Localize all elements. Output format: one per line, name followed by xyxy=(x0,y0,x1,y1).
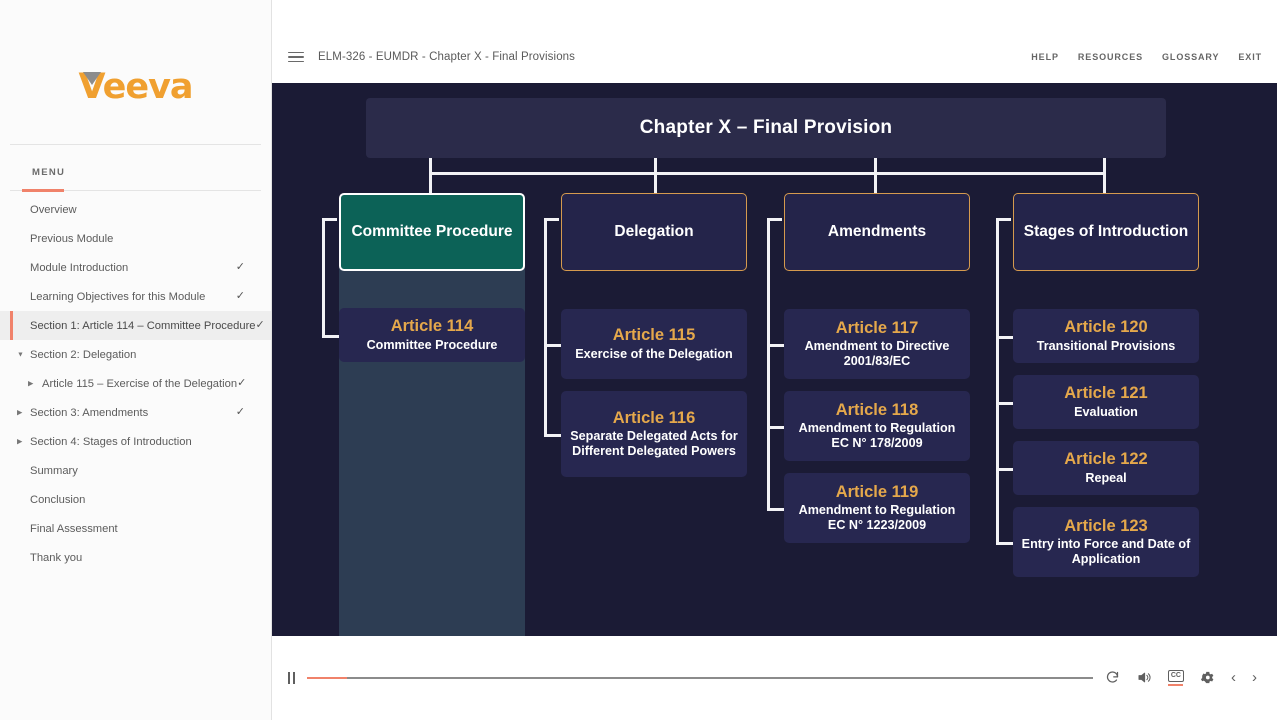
cc-active-underline xyxy=(1168,684,1183,686)
article-card[interactable]: Article 115Exercise of the Delegation xyxy=(561,309,747,379)
pause-button[interactable] xyxy=(282,666,301,690)
sidebar-item-label: Article 115 – Exercise of the Delegation xyxy=(42,378,237,390)
bracket-spine-3 xyxy=(767,218,770,508)
article-number: Article 119 xyxy=(792,482,962,502)
slide-canvas: Chapter X – Final Provision Committee Pr… xyxy=(272,83,1277,636)
sidebar: Veeva MENU OverviewPrevious ModuleModule… xyxy=(0,0,272,720)
veeva-triangle-icon xyxy=(83,72,101,85)
article-card[interactable]: Article 122Repeal xyxy=(1013,441,1199,495)
cc-label: CC xyxy=(1168,670,1184,682)
sidebar-item[interactable]: Previous Module xyxy=(0,224,271,253)
bracket-stub xyxy=(767,426,784,429)
article-number: Article 120 xyxy=(1021,317,1191,337)
bracket-top-stub-1 xyxy=(322,218,337,221)
drop-connector-2 xyxy=(654,158,657,193)
spine-connector xyxy=(429,172,1105,175)
sidebar-item-label: Final Assessment xyxy=(30,523,245,535)
article-description: Amendment to Directive 2001/83/EC xyxy=(792,339,962,369)
article-card[interactable]: Article 121Evaluation xyxy=(1013,375,1199,429)
sidebar-menu: OverviewPrevious ModuleModule Introducti… xyxy=(0,191,271,572)
disclosure-caret-icon[interactable]: ▼ xyxy=(17,351,24,358)
bracket-stub xyxy=(996,542,1013,545)
sidebar-item-label: Section 4: Stages of Introduction xyxy=(30,436,245,448)
article-card[interactable]: Article 114Committee Procedure xyxy=(339,308,525,362)
article-card[interactable]: Article 119Amendment to Regulation EC N°… xyxy=(784,473,970,543)
sidebar-item-label: Section 1: Article 114 – Committee Proce… xyxy=(30,320,256,332)
branch-header-3[interactable]: Amendments xyxy=(784,193,970,271)
article-card[interactable]: Article 120Transitional Provisions xyxy=(1013,309,1199,363)
bracket-stub xyxy=(996,402,1013,405)
article-card[interactable]: Article 116Separate Delegated Acts for D… xyxy=(561,391,747,477)
branch-header-1[interactable]: Committee Procedure xyxy=(339,193,525,271)
article-number: Article 117 xyxy=(792,318,962,338)
sidebar-item-label: Learning Objectives for this Module xyxy=(30,291,236,303)
sidebar-item-label: Previous Module xyxy=(30,233,245,245)
sidebar-item[interactable]: Learning Objectives for this Module✓ xyxy=(0,282,271,311)
article-card[interactable]: Article 123Entry into Force and Date of … xyxy=(1013,507,1199,577)
article-number: Article 115 xyxy=(569,325,739,345)
top-nav-glossary[interactable]: GLOSSARY xyxy=(1162,52,1219,62)
article-description: Exercise of the Delegation xyxy=(569,347,739,362)
sidebar-item[interactable]: ▶Section 3: Amendments✓ xyxy=(0,398,271,427)
top-bar: ELM-326 - EUMDR - Chapter X - Final Prov… xyxy=(272,31,1280,83)
bracket-spine-4 xyxy=(996,218,999,542)
bracket-top-stub-3 xyxy=(767,218,782,221)
disclosure-caret-icon[interactable]: ▶ xyxy=(17,438,22,445)
sidebar-item[interactable]: ▼Section 2: Delegation xyxy=(0,340,271,369)
article-description: Committee Procedure xyxy=(347,338,517,353)
sidebar-item[interactable]: ▶Article 115 – Exercise of the Delegatio… xyxy=(0,369,271,398)
bracket-stub xyxy=(767,508,784,511)
bracket-spine-1 xyxy=(322,218,325,335)
closed-captions-icon[interactable]: CC xyxy=(1168,670,1184,685)
top-nav-help[interactable]: HELP xyxy=(1031,52,1059,62)
top-nav-resources[interactable]: RESOURCES xyxy=(1078,52,1143,62)
branch-header-label: Amendments xyxy=(828,223,926,242)
menu-toggle-icon[interactable] xyxy=(288,49,304,65)
top-nav-exit[interactable]: EXIT xyxy=(1238,52,1262,62)
sidebar-item[interactable]: Section 1: Article 114 – Committee Proce… xyxy=(0,311,271,340)
bracket-stub xyxy=(322,335,339,338)
next-slide-icon[interactable]: › xyxy=(1252,670,1257,685)
bracket-spine-2 xyxy=(544,218,547,434)
article-description: Separate Delegated Acts for Different De… xyxy=(569,429,739,459)
sidebar-item[interactable]: Conclusion xyxy=(0,485,271,514)
article-number: Article 123 xyxy=(1021,516,1191,536)
article-card[interactable]: Article 117Amendment to Directive 2001/8… xyxy=(784,309,970,379)
bracket-stub xyxy=(767,344,784,347)
article-description: Transitional Provisions xyxy=(1021,339,1191,354)
top-navigation: HELPRESOURCESGLOSSARYEXIT xyxy=(1031,52,1262,62)
completed-check-icon: ✓ xyxy=(236,407,245,418)
elearning-player: Veeva MENU OverviewPrevious ModuleModule… xyxy=(0,0,1280,720)
bracket-top-stub-2 xyxy=(544,218,559,221)
article-description: Repeal xyxy=(1021,471,1191,486)
article-number: Article 121 xyxy=(1021,383,1191,403)
slide-stage: Chapter X – Final Provision Committee Pr… xyxy=(272,83,1277,636)
sidebar-item[interactable]: Module Introduction✓ xyxy=(0,253,271,282)
player-icon-group: CC ‹ › xyxy=(1105,670,1257,685)
sidebar-item-label: Conclusion xyxy=(30,494,245,506)
bracket-stub xyxy=(544,434,561,437)
article-number: Article 116 xyxy=(569,408,739,428)
bracket-stub xyxy=(996,336,1013,339)
sidebar-item[interactable]: Final Assessment xyxy=(0,514,271,543)
sidebar-item[interactable]: Summary xyxy=(0,456,271,485)
sidebar-item-label: Section 3: Amendments xyxy=(30,407,236,419)
sidebar-item-label: Module Introduction xyxy=(30,262,236,274)
bracket-stub xyxy=(544,344,561,347)
sidebar-item[interactable]: Thank you xyxy=(0,543,271,572)
sidebar-item-label: Overview xyxy=(30,204,245,216)
completed-check-icon: ✓ xyxy=(256,320,265,331)
course-title: ELM-326 - EUMDR - Chapter X - Final Prov… xyxy=(318,51,575,63)
sidebar-item[interactable]: ▶Section 4: Stages of Introduction xyxy=(0,427,271,456)
disclosure-caret-icon[interactable]: ▶ xyxy=(17,409,22,416)
brand-logo: Veeva xyxy=(10,30,261,145)
completed-check-icon: ✓ xyxy=(236,291,245,302)
settings-gear-icon[interactable] xyxy=(1200,670,1215,685)
active-column-highlight xyxy=(339,233,525,636)
bracket-top-stub-4 xyxy=(996,218,1011,221)
branch-header-label: Delegation xyxy=(614,223,693,242)
completed-check-icon: ✓ xyxy=(237,378,246,389)
sidebar-item-label: Thank you xyxy=(30,552,245,564)
bracket-stub xyxy=(996,468,1013,471)
sidebar-item[interactable]: Overview xyxy=(0,195,271,224)
volume-icon[interactable] xyxy=(1136,670,1152,685)
slide-title: Chapter X – Final Provision xyxy=(640,117,892,139)
disclosure-caret-icon[interactable]: ▶ xyxy=(28,380,33,387)
progress-bar[interactable] xyxy=(307,677,1093,679)
article-number: Article 122 xyxy=(1021,449,1191,469)
article-number: Article 118 xyxy=(792,400,962,420)
drop-connector-3 xyxy=(874,158,877,193)
drop-connector-1 xyxy=(429,172,432,193)
branch-header-2[interactable]: Delegation xyxy=(561,193,747,271)
sidebar-item-label: Section 2: Delegation xyxy=(30,349,245,361)
article-description: Evaluation xyxy=(1021,405,1191,420)
article-description: Amendment to Regulation EC N° 1223/2009 xyxy=(792,503,962,533)
previous-slide-icon[interactable]: ‹ xyxy=(1231,670,1236,685)
branch-header-label: Stages of Introduction xyxy=(1024,223,1188,242)
article-description: Entry into Force and Date of Application xyxy=(1021,537,1191,567)
menu-heading: MENU xyxy=(10,145,261,191)
replay-icon[interactable] xyxy=(1105,670,1120,685)
branch-header-4[interactable]: Stages of Introduction xyxy=(1013,193,1199,271)
article-card[interactable]: Article 118Amendment to Regulation EC N°… xyxy=(784,391,970,461)
article-description: Amendment to Regulation EC N° 178/2009 xyxy=(792,421,962,451)
slide-title-box: Chapter X – Final Provision xyxy=(366,98,1166,158)
main-panel: ELM-326 - EUMDR - Chapter X - Final Prov… xyxy=(272,0,1280,720)
drop-connector-4 xyxy=(1103,158,1106,193)
branch-header-label: Committee Procedure xyxy=(351,223,512,242)
progress-fill xyxy=(307,677,347,679)
sidebar-item-label: Summary xyxy=(30,465,245,477)
player-controls: CC ‹ › xyxy=(272,636,1277,720)
completed-check-icon: ✓ xyxy=(236,262,245,273)
article-number: Article 114 xyxy=(347,316,517,336)
